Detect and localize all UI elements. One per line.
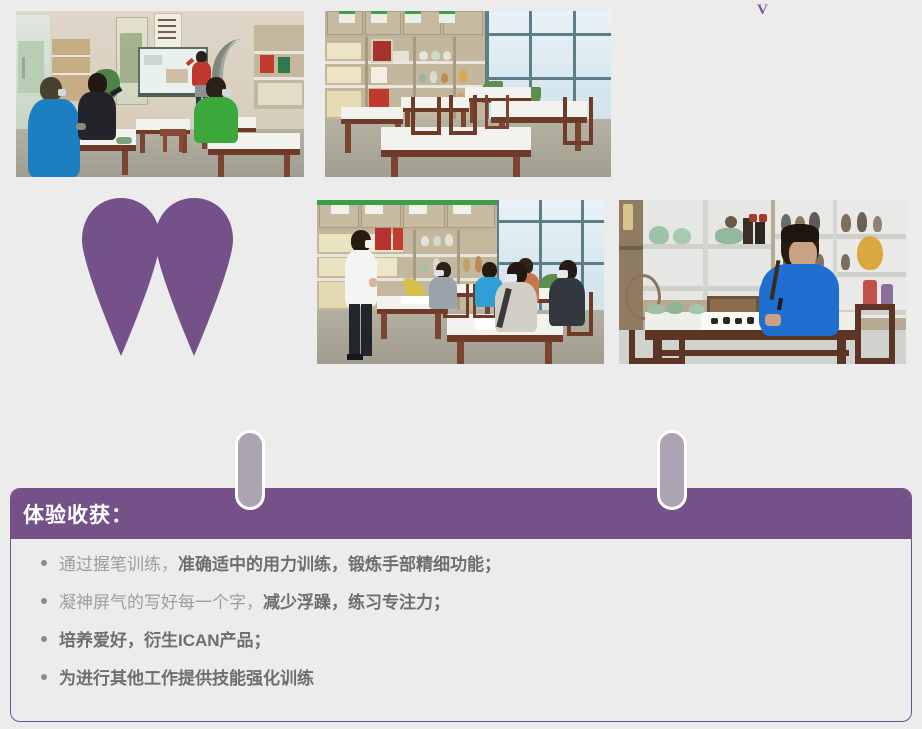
bullet-dot-icon: [41, 674, 47, 680]
bullet-text-bold: 准确适中的用力训练，锻炼手部精细功能；: [178, 555, 501, 574]
bullet-dot-icon: [41, 560, 47, 566]
list-item: 培养爱好，衍生ICAN产品；: [11, 632, 911, 670]
list-item: 通过握笔训练，准确适中的用力训练，锻炼手部精细功能；: [11, 556, 911, 594]
bullet-dot-icon: [41, 636, 47, 642]
list-item: 为进行其他工作提供技能强化训练: [11, 670, 911, 708]
bullet-text-bold: 为进行其他工作提供技能强化训练: [59, 669, 314, 688]
takeaways-panel-header: 体验收获：: [11, 489, 911, 539]
bullet-text-bold: 减少浮躁，练习专注力；: [263, 593, 450, 612]
bullet-text-light: 通过握笔训练，: [59, 555, 178, 574]
takeaways-panel: 体验收获： 通过握笔训练，准确适中的用力训练，锻炼手部精细功能； 凝神屏气的写好…: [10, 488, 912, 722]
bullet-text-bold: 培养爱好，衍生ICAN产品；: [59, 631, 271, 650]
bullet-dot-icon: [41, 598, 47, 604]
page-root: V: [0, 0, 922, 729]
teardrop-pin-left: [80, 196, 162, 356]
list-item: 凝神屏气的写好每一个字，减少浮躁，练习专注力；: [11, 594, 911, 632]
bullet-text-light: 凝神屏气的写好每一个字，: [59, 593, 263, 612]
panel-title: 体验收获：: [23, 499, 133, 529]
teardrop-pin-right: [153, 196, 235, 356]
takeaways-list: 通过握笔训练，准确适中的用力训练，锻炼手部精细功能； 凝神屏气的写好每一个字，减…: [11, 539, 911, 708]
panel-clip-right: [657, 430, 687, 510]
teardrop-decoration-group: [0, 0, 922, 400]
panel-clip-left: [235, 430, 265, 510]
